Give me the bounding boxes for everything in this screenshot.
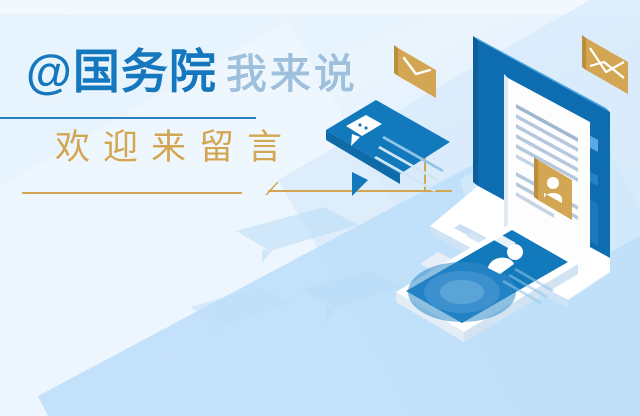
laptop-screen-edge: [473, 36, 478, 186]
title-row: @国务院 我来说: [26, 48, 446, 108]
chat-bubble: [326, 100, 450, 196]
promo-banner: @国务院 我来说 欢迎来留言: [0, 0, 640, 416]
blue-divider-rule: [0, 117, 256, 119]
page-title: @国务院: [26, 48, 217, 95]
background-bubble-2: [186, 285, 296, 345]
envelope-mail-icon: [582, 35, 628, 94]
document-sheet-edge: [504, 74, 508, 230]
headline-block: @国务院 我来说: [26, 48, 446, 108]
gold-frame-bottom-left: [22, 192, 242, 194]
page-subtitle: 欢迎来留言: [55, 130, 295, 165]
background-bubble-4: [150, 330, 280, 400]
page-title-secondary: 我来说: [226, 54, 358, 95]
gold-frame-notch: [235, 182, 279, 195]
